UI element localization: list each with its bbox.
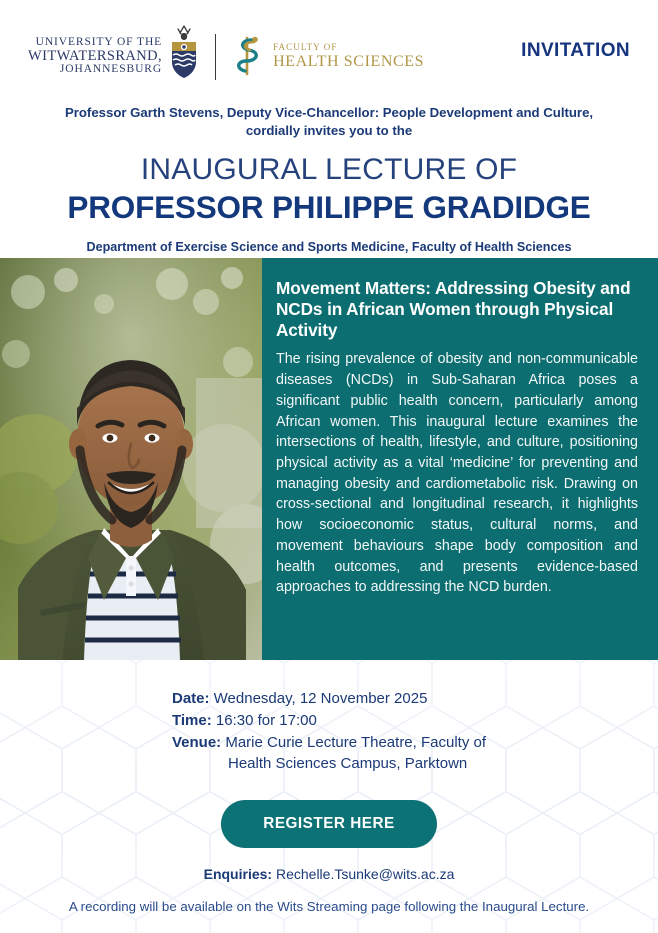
faculty-wordmark: FACULTY OF HEALTH SCIENCES: [273, 43, 424, 70]
lecture-title: Movement Matters: Addressing Obesity and…: [276, 278, 638, 340]
event-details: Date: Wednesday, 12 November 2025 Time: …: [0, 688, 658, 775]
enquiries-label: Enquiries:: [204, 866, 272, 882]
abstract-panel: Movement Matters: Addressing Obesity and…: [262, 258, 658, 660]
media-band: Movement Matters: Addressing Obesity and…: [0, 258, 658, 660]
wits-wordmark-line3: JOHANNESBURG: [28, 64, 162, 76]
enquiries-email[interactable]: Rechelle.Tsunke@wits.ac.za: [276, 866, 454, 882]
wits-wordmark-line2: WITWATERSRAND,: [28, 49, 162, 64]
wits-shield-icon: [167, 24, 201, 85]
time-value: 16:30 for 17:00: [216, 712, 317, 729]
faculty-wordmark-line1: FACULTY OF: [273, 43, 424, 52]
logo-lockup: UNIVERSITY OF THE WITWATERSRAND, JOHANNE…: [28, 28, 424, 85]
department-line: Department of Exercise Science and Sport…: [0, 240, 658, 254]
date-label: Date:: [172, 690, 210, 707]
venue-value-continued: Health Sciences Campus, Parktown: [228, 755, 467, 772]
invitation-label: INVITATION: [521, 40, 630, 62]
wits-wordmark: UNIVERSITY OF THE WITWATERSRAND, JOHANNE…: [28, 37, 162, 75]
asclepius-caduceus-icon: [232, 31, 266, 82]
time-label: Time:: [172, 712, 212, 729]
date-value: Wednesday, 12 November 2025: [214, 690, 428, 707]
venue-value: Marie Curie Lecture Theatre, Faculty of: [225, 734, 486, 751]
detail-date-row: Date: Wednesday, 12 November 2025: [172, 688, 486, 710]
poster-header: UNIVERSITY OF THE WITWATERSRAND, JOHANNE…: [0, 0, 658, 100]
detail-venue-row-continued: Health Sciences Campus, Parktown: [172, 753, 486, 775]
detail-venue-row: Venue: Marie Curie Lecture Theatre, Facu…: [172, 732, 486, 754]
venue-label: Venue:: [172, 734, 221, 751]
professor-name-heading: PROFESSOR PHILIPPE GRADIDGE: [0, 189, 658, 226]
register-here-button[interactable]: REGISTER HERE: [221, 800, 436, 848]
recording-note: A recording will be available on the Wit…: [0, 899, 658, 914]
cta-container: REGISTER HERE: [0, 800, 658, 848]
invitation-poster: UNIVERSITY OF THE WITWATERSRAND, JOHANNE…: [0, 0, 658, 933]
inaugural-lecture-heading: INAUGURAL LECTURE OF: [0, 153, 658, 187]
logo-divider: [215, 34, 216, 80]
enquiries-line: Enquiries: Rechelle.Tsunke@wits.ac.za: [0, 866, 658, 882]
invitation-sentence: Professor Garth Stevens, Deputy Vice-Cha…: [0, 104, 658, 140]
faculty-health-sciences-logo: FACULTY OF HEALTH SCIENCES: [232, 31, 424, 82]
title-block: Professor Garth Stevens, Deputy Vice-Cha…: [0, 104, 658, 254]
faculty-wordmark-line2: HEALTH SCIENCES: [273, 54, 424, 70]
detail-time-row: Time: 16:30 for 17:00: [172, 710, 486, 732]
lecture-abstract-text: The rising prevalence of obesity and non…: [276, 349, 638, 598]
speaker-portrait-photo: [0, 258, 262, 660]
